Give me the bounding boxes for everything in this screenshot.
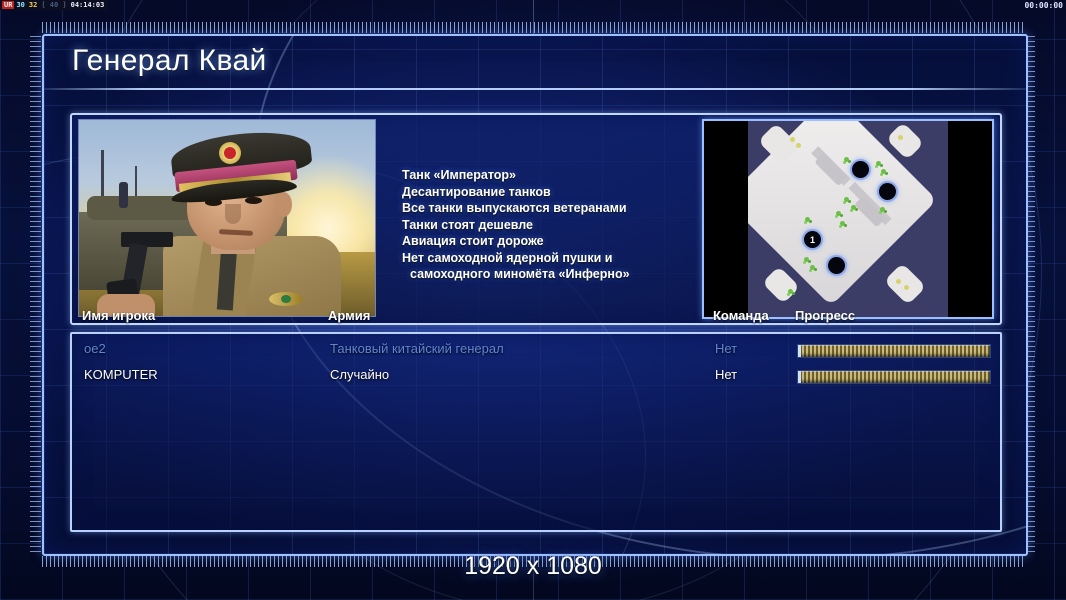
player-team-select[interactable]: Нет [715,367,737,382]
map-trees [851,205,856,210]
map-trees [810,265,815,270]
map-trees [788,289,793,294]
player-team-select[interactable]: Нет [715,341,737,356]
map-trees [840,221,845,226]
lobby-frame: Генерал Квай [42,34,1028,556]
general-trait: Нет самоходной ядерной пушки и [402,250,697,267]
table-row[interactable]: KOMPUTERСлучайноНет [72,364,1000,390]
map-trees [880,207,885,212]
general-trait: самоходного миномёта «Инферно» [402,266,697,283]
resolution-overlay: 1920 x 1080 [0,552,1066,581]
general-trait: Танки стоят дешевле [402,217,697,234]
player-name-cell: KOMPUTER [84,367,158,382]
player-progress-bar [797,344,991,358]
column-header-army: Армия [328,308,370,323]
title-divider [44,88,1026,90]
officer-chest-badge [269,292,303,306]
map-supply [904,285,909,290]
general-trait: Все танки выпускаются ветеранами [402,200,697,217]
map-corner-base [762,266,800,304]
map-trees [836,211,841,216]
player-name-cell: oe2 [84,341,106,356]
map-trees [881,169,886,174]
map-trees [805,217,810,222]
map-trees [844,197,849,202]
map-start-position-label: 1 [804,231,821,248]
map-start-position[interactable]: 1 [802,229,823,250]
map-trees [804,257,809,262]
recording-stats-overlay: UR3032[ 40 ]04:14:03 [0,0,108,10]
progress-bar-tip [798,345,801,357]
map-supply [896,279,901,284]
map-supply [796,143,801,148]
map-start-position[interactable] [850,159,871,180]
ruler-top [42,22,1024,33]
general-info-panel: Танк «Император»Десантирование танковВсе… [70,113,1002,325]
game-lobby-screen: Генерал Квай [0,0,1066,600]
overlay-stat-segment: 32 [27,1,39,9]
player-army-select[interactable]: Случайно [330,367,389,382]
column-header-team: Команда [713,308,769,323]
officer-eye [245,197,262,204]
officer-nose [225,204,241,224]
map-corner-base [884,263,926,305]
column-header-name: Имя игрока [82,308,155,323]
map-start-position[interactable] [877,181,898,202]
map-supply [790,137,795,142]
column-header-progress: Прогресс [795,308,855,323]
map-trees [844,157,849,162]
map-preview[interactable]: 1 [702,119,994,319]
officer-ear [275,192,292,217]
overlay-stat-segment: [ 40 ] [39,1,68,9]
general-portrait [78,119,376,317]
player-table-header: Имя игрока Армия Команда Прогресс [70,308,998,330]
portrait-figure [119,182,128,208]
general-trait: Авиация стоит дороже [402,233,697,250]
ruler-left [30,34,41,552]
title-bar: Генерал Квай [44,36,1026,90]
general-trait: Десантирование танков [402,184,697,201]
general-traits-list: Танк «Император»Десантирование танковВсе… [402,167,697,283]
progress-bar-tip [798,371,801,383]
overlay-stat-segment: 30 [14,1,26,9]
map-image: 1 [748,121,948,317]
timer-overlay: 00:00:00 [1024,1,1063,10]
player-progress-bar [797,370,991,384]
map-supply [898,135,903,140]
officer-cap-emblem [219,142,241,164]
table-row[interactable]: oe2Танковый китайский генералНет [72,338,1000,364]
map-trees [876,161,881,166]
overlay-stat-segment: UR [2,1,14,9]
player-list-panel: oe2Танковый китайский генералНетKOMPUTER… [70,332,1002,532]
page-title: Генерал Квай [72,44,267,78]
map-start-position[interactable] [826,255,847,276]
general-trait: Танк «Император» [402,167,697,184]
overlay-stat-segment: 04:14:03 [69,1,107,9]
player-army-select[interactable]: Танковый китайский генерал [330,341,504,356]
